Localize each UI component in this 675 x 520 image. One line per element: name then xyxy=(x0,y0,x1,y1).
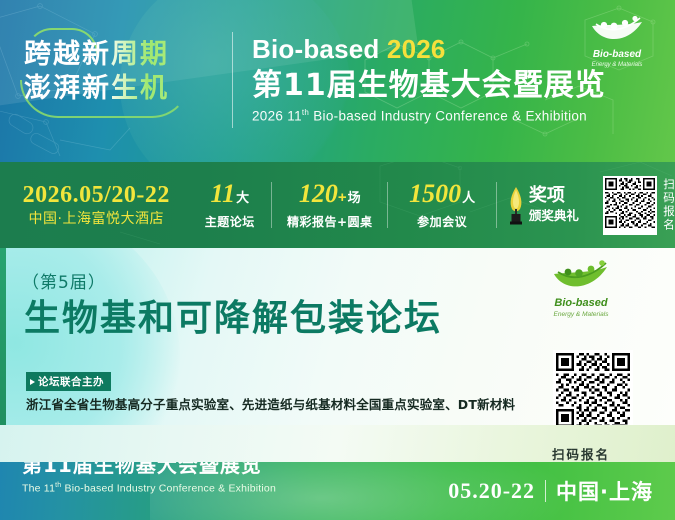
stat-number-sessions: 120+场 xyxy=(272,180,387,213)
organizer-tag-label: 论坛联合主办 xyxy=(38,374,104,389)
header-title-block: Bio-based 2026 第11届生物基大会暨展览 2026 11th Bi… xyxy=(252,34,606,124)
trophy-icon xyxy=(505,185,527,225)
stat-plus-sessions: + xyxy=(338,189,347,206)
stat-label-attendees: 参加会议 xyxy=(388,213,496,231)
stats-qr-code[interactable] xyxy=(603,176,657,235)
triangle-icon xyxy=(30,379,35,385)
stat-label-forums: 主题论坛 xyxy=(188,213,271,231)
qr-code-icon[interactable] xyxy=(605,178,655,228)
stat-unit-attendees: 人 xyxy=(462,191,475,206)
stat-item-forums: 11大 主题论坛 xyxy=(188,180,271,231)
poster-header: 跨越新周期 澎湃新生机 Bio-based 2026 第11届生物基大会暨展览 … xyxy=(0,0,675,162)
footer-location: 中国·上海 xyxy=(556,476,653,506)
header-logo-name: Bio-based xyxy=(573,49,661,61)
stat-unit-forums: 大 xyxy=(236,191,249,206)
header-subtitle-en: 2026 11th Bio-based Industry Conference … xyxy=(252,108,606,124)
header-biobased-logo: Bio-based Energy & Materials xyxy=(573,14,661,69)
stats-qr-block[interactable]: 扫码报名 xyxy=(603,176,675,235)
organizer-tag-row: 论坛联合主办 xyxy=(26,372,111,391)
qr-code-icon[interactable] xyxy=(556,353,630,427)
forum-panel: （第5届） 生物基和可降解包装论坛 论坛联合主办 浙江省全省生物基高分子重点实验… xyxy=(0,248,675,428)
forum-ordinal: （第5届） xyxy=(22,268,106,293)
slogan-block: 跨越新周期 澎湃新生机 xyxy=(24,38,224,106)
panel-logo-tagline: Energy & Materials xyxy=(535,310,627,319)
panel-left-accent-bar xyxy=(0,248,6,428)
poster-footer: Bio-based 2026 第11届生物基大会暨展览 The 11th Bio… xyxy=(0,462,675,520)
slogan-line-1: 跨越新周期 xyxy=(24,38,224,72)
event-date: 2026.05/20-22 xyxy=(4,181,188,209)
leaf-molecule-icon xyxy=(586,14,648,44)
footer-title-cn: 第11届生物基大会暨展览 xyxy=(22,462,276,479)
footer-brand-block: Bio-based 2026 第11届生物基大会暨展览 The 11th Bio… xyxy=(22,462,276,496)
stat-value-forums: 11 xyxy=(211,179,236,208)
footer-subtitle-post: Bio-based Industry Conference & Exhibiti… xyxy=(61,483,276,495)
stat-item-sessions: 120+场 精彩报告+圆桌 xyxy=(272,180,387,231)
registration-qr-caption: 扫码报名 xyxy=(531,444,631,463)
stat-number-attendees: 1500人 xyxy=(388,180,496,213)
panel-logo-name: Bio-based xyxy=(535,297,627,310)
leaf-molecule-icon xyxy=(549,258,613,292)
stat-item-attendees: 1500人 参加会议 xyxy=(388,180,496,231)
forum-title: 生物基和可降解包装论坛 xyxy=(24,296,442,342)
header-subtitle-pre: 2026 11 xyxy=(252,109,302,124)
conference-poster: 跨越新周期 澎湃新生机 Bio-based 2026 第11届生物基大会暨展览 … xyxy=(0,0,675,520)
header-vertical-divider xyxy=(232,32,233,128)
header-brand-line: Bio-based 2026 xyxy=(252,34,606,64)
organizer-list: 浙江省全省生物基高分子重点实验室、先进造纸与纸基材料全国重点实验室、DT新材料 xyxy=(26,394,515,413)
event-venue: 中国·上海富悦大酒店 xyxy=(4,209,188,229)
footer-subtitle-pre: The 11 xyxy=(22,483,55,495)
footer-date: 05.20-22 xyxy=(448,478,535,504)
stats-row: 2026.05/20-22 中国·上海富悦大酒店 11大 主题论坛 120+场 … xyxy=(0,162,675,248)
stat-unit-sessions: 场 xyxy=(348,191,361,206)
slogan-line-2: 澎湃新生机 xyxy=(24,72,224,106)
header-brand-year: 2026 xyxy=(387,34,446,64)
award-title: 奖项 xyxy=(529,185,579,207)
stats-qr-label: 扫码报名 xyxy=(663,178,675,232)
stat-value-attendees: 1500 xyxy=(409,179,461,208)
header-logo-tagline: Energy & Materials xyxy=(573,61,661,69)
stats-band: 2026.05/20-22 中国·上海富悦大酒店 11大 主题论坛 120+场 … xyxy=(0,162,675,248)
award-subtitle: 颁奖典礼 xyxy=(529,207,579,225)
footer-separator xyxy=(545,480,546,502)
header-brand-text: Bio-based xyxy=(252,34,379,64)
stat-value-sessions: 120 xyxy=(299,179,338,208)
event-date-block: 2026.05/20-22 中国·上海富悦大酒店 xyxy=(0,181,188,229)
panel-qr-block[interactable] xyxy=(553,350,633,428)
header-subtitle-post: Bio-based Industry Conference & Exhibiti… xyxy=(309,109,587,124)
stat-label-sessions: 精彩报告+圆桌 xyxy=(272,213,387,231)
stat-number-forums: 11大 xyxy=(188,180,271,213)
award-block: 奖项 颁奖典礼 xyxy=(497,185,601,225)
footer-date-location: 05.20-22 中国·上海 xyxy=(448,476,653,506)
header-title-cn: 第11届生物基大会暨展览 xyxy=(252,66,606,106)
registration-qr-code[interactable] xyxy=(553,350,633,428)
panel-biobased-logo: Bio-based Energy & Materials xyxy=(535,258,627,319)
organizer-tag: 论坛联合主办 xyxy=(26,372,111,391)
award-text: 奖项 颁奖典礼 xyxy=(529,185,579,225)
footer-subtitle-en: The 11th Bio-based Industry Conference &… xyxy=(22,479,276,496)
